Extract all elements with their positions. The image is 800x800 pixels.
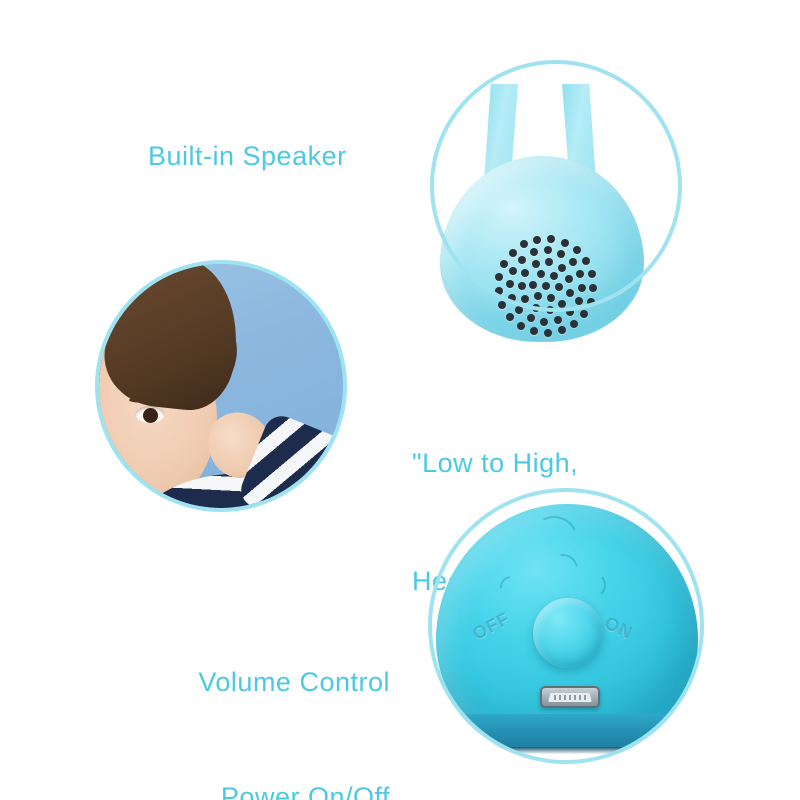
caption-built-in-speaker: Built-in Speaker xyxy=(148,140,347,173)
speaker-grille-dot xyxy=(530,327,538,335)
child-pupil xyxy=(143,408,158,423)
caption-hearing-line-1: "Low to High, xyxy=(412,444,655,483)
speaker-photo-ring xyxy=(430,60,682,312)
speaker-grille-dot xyxy=(506,313,514,321)
speaker-grille-dot xyxy=(517,322,525,330)
child-photo-inner xyxy=(99,264,343,508)
child-listening-photo xyxy=(95,260,347,512)
speaker-grille-dot xyxy=(527,314,535,322)
speaker-grille-dot xyxy=(570,320,578,328)
caption-power-on-off: Power On/Off xyxy=(68,778,390,800)
speaker-grille-dot xyxy=(544,329,552,337)
caption-volume-control: Volume Control xyxy=(68,663,390,701)
speaker-grille-dot xyxy=(540,318,548,326)
product-feature-infographic: Built-in Speaker "Low to High, Hearing P… xyxy=(0,0,800,800)
speaker-grille-dot xyxy=(580,310,588,318)
speaker-grille-dot xyxy=(558,326,566,334)
speaker-grille-dot xyxy=(498,301,506,309)
caption-controls: Volume Control Power On/Off Micro USB Ch… xyxy=(68,586,390,800)
control-photo-ring xyxy=(428,488,704,764)
speaker-grille-dot xyxy=(554,316,562,324)
